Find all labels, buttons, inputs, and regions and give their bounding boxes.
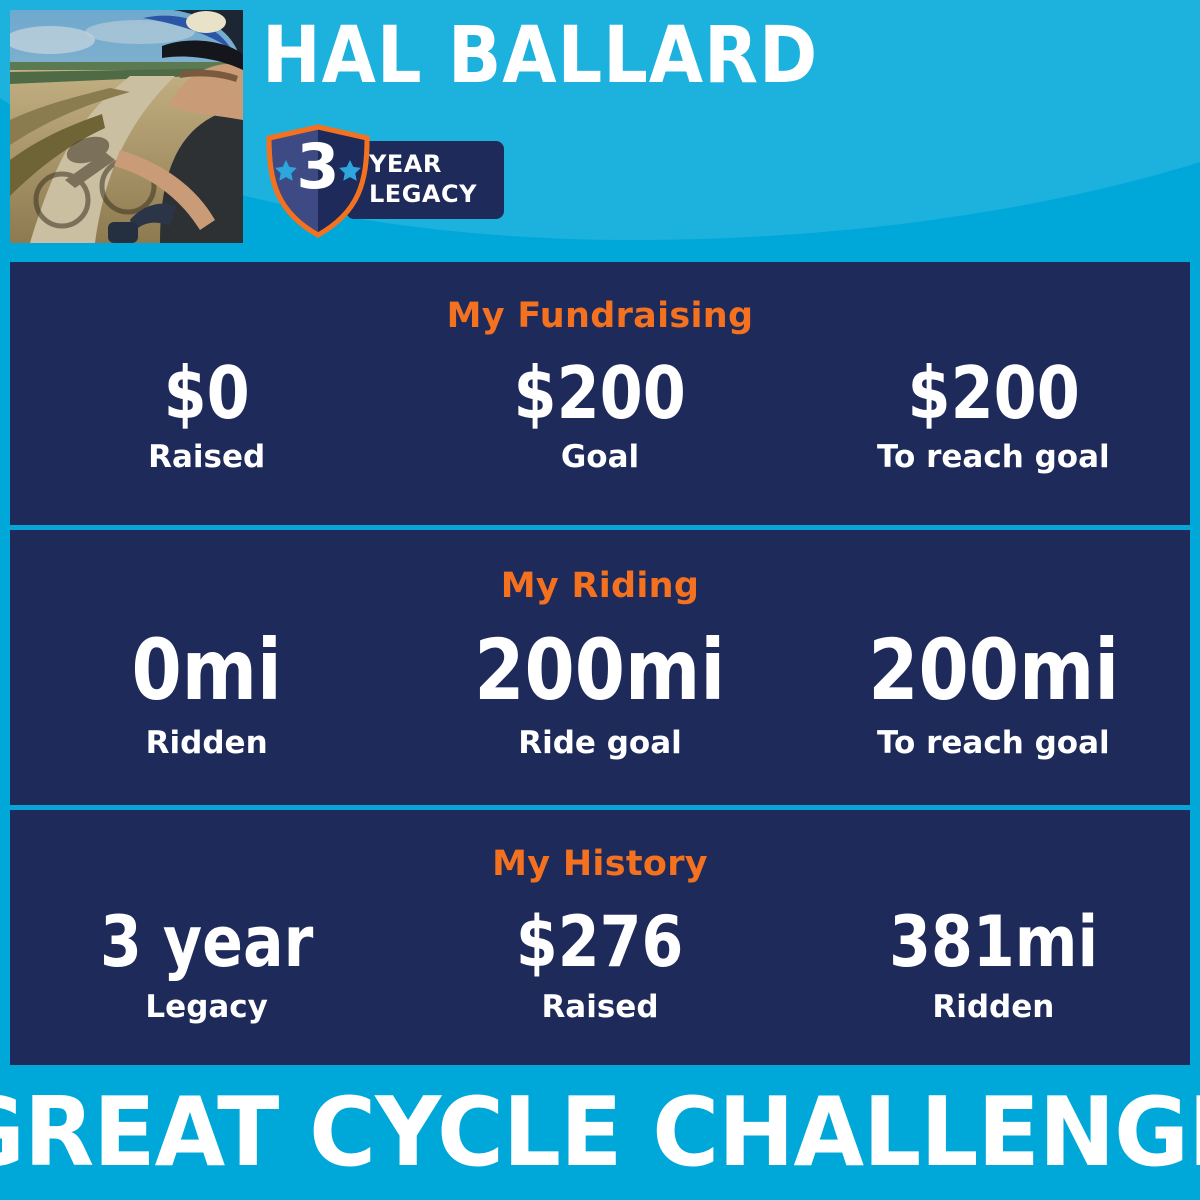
stat-to-reach-goal-miles: 200mi To reach goal <box>797 622 1190 762</box>
section-title-riding: My Riding <box>10 530 1190 606</box>
section-title-history: My History <box>10 810 1190 884</box>
stat-label-legacy: Legacy <box>10 982 403 1026</box>
stat-to-reach-goal-money: $200 To reach goal <box>797 352 1190 476</box>
stat-value-raised: $0 <box>38 352 376 434</box>
legacy-plate-line2: LEGACY <box>369 179 477 209</box>
section-fundraising: My Fundraising $0 Raised $200 Goal $200 … <box>10 262 1190 525</box>
section-title-fundraising: My Fundraising <box>10 262 1190 336</box>
legacy-badge: YEAR LEGACY 3 <box>264 124 504 238</box>
stat-ride-goal: 200mi Ride goal <box>403 622 796 762</box>
stat-label-history-ridden: Ridden <box>797 982 1190 1026</box>
shield-icon: 3 <box>264 124 372 238</box>
stat-value-ridden: 0mi <box>38 622 376 718</box>
stat-label-to-reach-goal-money: To reach goal <box>797 434 1190 476</box>
section-riding: My Riding 0mi Ridden 200mi Ride goal 200… <box>10 530 1190 805</box>
stat-row-history: 3 year Legacy $276 Raised 381mi Ridden <box>10 884 1190 1026</box>
brand-wordmark: GREAT CYCLE CHALLENGE <box>0 1083 1200 1183</box>
stat-legacy: 3 year Legacy <box>10 902 403 1026</box>
stat-value-to-reach-goal-money: $200 <box>824 352 1162 434</box>
page-title: HAL BALLARD <box>262 14 818 98</box>
stat-value-legacy: 3 year <box>38 902 376 982</box>
section-history: My History 3 year Legacy $276 Raised 381… <box>10 810 1190 1075</box>
stats-panel: My Fundraising $0 Raised $200 Goal $200 … <box>10 262 1190 1065</box>
stat-value-goal: $200 <box>431 352 769 434</box>
stat-label-raised: Raised <box>10 434 403 476</box>
stat-value-to-reach-goal-miles: 200mi <box>824 622 1162 718</box>
rider-photo-image <box>10 10 243 243</box>
poster-header: HAL BALLARD YEAR LEGACY 3 <box>0 0 1200 262</box>
stat-label-goal: Goal <box>403 434 796 476</box>
fundraiser-profile-poster: HAL BALLARD YEAR LEGACY 3 <box>0 0 1200 1200</box>
stat-row-riding: 0mi Ridden 200mi Ride goal 200mi To reac… <box>10 606 1190 762</box>
stat-label-history-raised: Raised <box>403 982 796 1026</box>
stat-value-history-raised: $276 <box>431 902 769 982</box>
stat-label-ridden: Ridden <box>10 718 403 762</box>
stat-history-raised: $276 Raised <box>403 902 796 1026</box>
legacy-years-number: 3 <box>264 136 372 198</box>
stat-row-fundraising: $0 Raised $200 Goal $200 To reach goal <box>10 336 1190 476</box>
poster-footer: GREAT CYCLE CHALLENGE <box>0 1065 1200 1200</box>
stat-label-to-reach-goal-miles: To reach goal <box>797 718 1190 762</box>
stat-goal: $200 Goal <box>403 352 796 476</box>
stat-value-ride-goal: 200mi <box>431 622 769 718</box>
stat-history-ridden: 381mi Ridden <box>797 902 1190 1026</box>
stat-raised: $0 Raised <box>10 352 403 476</box>
avatar <box>10 10 243 243</box>
stat-value-history-ridden: 381mi <box>824 902 1162 982</box>
stat-label-ride-goal: Ride goal <box>403 718 796 762</box>
stat-ridden: 0mi Ridden <box>10 622 403 762</box>
legacy-plate-line1: YEAR <box>369 149 442 179</box>
